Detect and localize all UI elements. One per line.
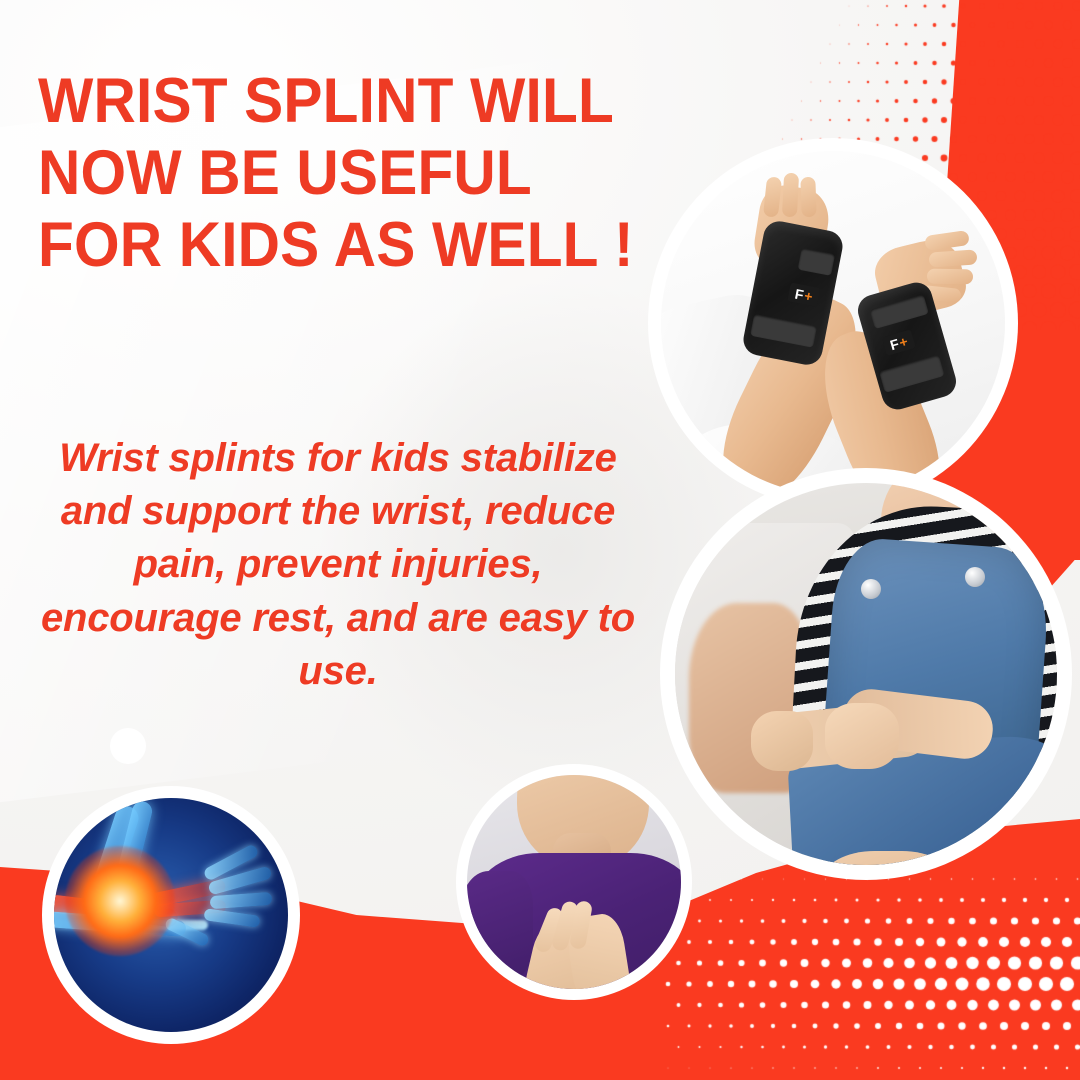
overall-buckle [965,567,985,587]
body-copy: Wrist splints for kids stabilize and sup… [30,432,646,698]
brand-logo-badge: F+ [787,282,820,306]
wrist-xray-photo [42,786,300,1044]
page-title: WRIST SPLINT WILL NOW BE USEFUL FOR KIDS… [38,66,615,281]
splint-strap [750,314,817,348]
headline-line-1: WRIST SPLINT WILL [38,66,615,138]
tshirt-sleeve-left [467,871,533,983]
child-wrist-photo [660,468,1072,880]
child-hand-gripping-wrist [825,703,899,769]
brand-plus: + [803,288,814,303]
splint-strap [879,355,945,393]
splint-strap [870,294,929,329]
splint-strap [798,248,836,276]
headline-line-2: NOW BE USEFUL [38,138,615,210]
child-fist [751,711,813,771]
headline-line-3: FOR KIDS AS WELL ! [38,210,615,282]
pain-glow-indicator [65,846,175,956]
white-dot-accent [110,728,146,764]
poster-canvas: WRIST SPLINT WILL NOW BE USEFUL FOR KIDS… [0,0,1080,1080]
overall-buckle [861,579,881,599]
brand-logo-badge: F+ [882,329,916,356]
child-purple-shirt-photo [456,764,692,1000]
tshirt-sleeve-right [635,869,681,985]
finger [927,269,973,285]
finger [782,173,799,218]
splint-product-photo: F+ F+ [648,138,1018,508]
finger [800,177,816,217]
